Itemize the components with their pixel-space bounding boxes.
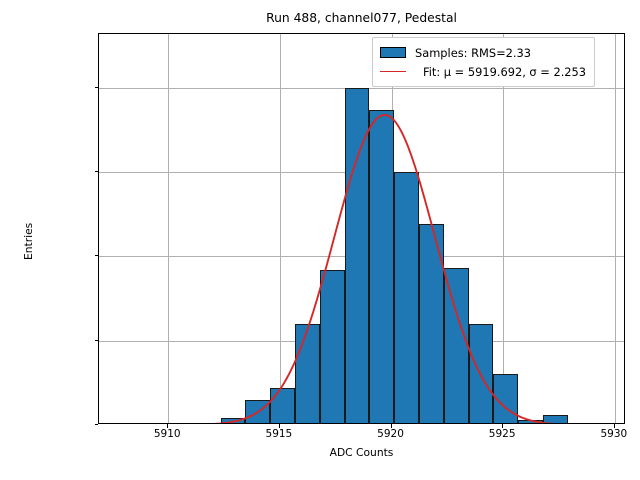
x-tick-label: 5925 — [489, 428, 516, 440]
legend-label-fit: Fit: μ = 5919.692, σ = 2.253 — [415, 65, 586, 79]
gaussian-fit-curve — [99, 34, 624, 423]
y-axis-label: Entries — [22, 223, 35, 260]
chart-title: Run 488, channel077, Pedestal — [98, 9, 625, 27]
y-tick-mark — [95, 87, 99, 88]
y-tick-mark — [95, 340, 99, 341]
figure-canvas: Run 488, channel077, Pedestal Entries AD… — [0, 0, 640, 480]
legend-swatch-samples-icon — [380, 47, 406, 58]
fit-path — [99, 115, 624, 423]
x-tick-mark — [391, 424, 392, 428]
x-tick-label: 5910 — [154, 428, 181, 440]
x-tick-label: 5915 — [266, 428, 293, 440]
plot-inner — [99, 34, 624, 423]
plot-area — [98, 33, 625, 424]
legend-label-samples: Samples: RMS=2.33 — [415, 46, 531, 60]
x-tick-mark — [279, 424, 280, 428]
x-tick-label: 5920 — [377, 428, 404, 440]
x-tick-label: 5930 — [600, 428, 627, 440]
x-tick-mark — [614, 424, 615, 428]
y-tick-mark — [95, 424, 99, 425]
x-axis-label: ADC Counts — [98, 446, 625, 459]
legend-line-fit-icon — [380, 71, 406, 72]
legend-item-fit[interactable]: Fit: μ = 5919.692, σ = 2.253 — [380, 62, 586, 81]
legend-item-samples[interactable]: Samples: RMS=2.33 — [380, 43, 586, 62]
y-tick-mark — [95, 171, 99, 172]
x-tick-mark — [167, 424, 168, 428]
chart-legend[interactable]: Samples: RMS=2.33 Fit: μ = 5919.692, σ =… — [372, 37, 595, 87]
x-tick-mark — [502, 424, 503, 428]
y-tick-mark — [95, 255, 99, 256]
